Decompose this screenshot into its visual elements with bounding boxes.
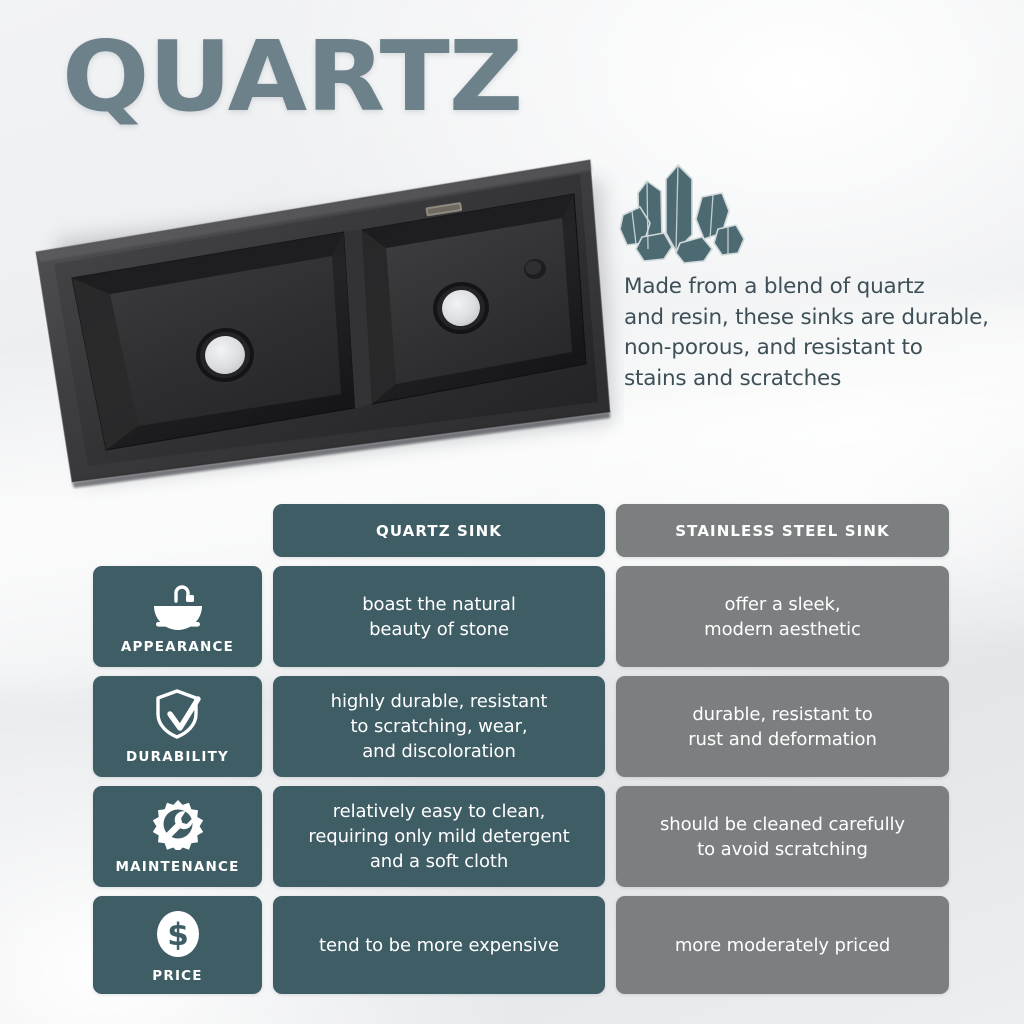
cell-line: boast the natural <box>362 592 516 617</box>
cell-steel-appearance: offer a sleek, modern aesthetic <box>616 566 949 667</box>
row-label-text: MAINTENANCE <box>115 859 239 875</box>
row-label-appearance: APPEARANCE <box>93 566 262 667</box>
cell-line: modern aesthetic <box>704 617 861 642</box>
row-label-price: $ PRICE <box>93 896 262 994</box>
cell-text: durable, resistant to rust and deformati… <box>674 702 891 752</box>
description-line: Made from a blend of quartz <box>624 272 1002 303</box>
cell-steel-maintenance: should be cleaned carefully to avoid scr… <box>616 786 949 887</box>
cell-line: and discoloration <box>331 739 548 764</box>
table-row: APPEARANCE boast the natural beauty of s… <box>93 566 949 667</box>
dollar-coin-icon: $ <box>153 907 203 959</box>
sink-basin-faucet-icon <box>147 578 209 630</box>
cell-quartz-price: tend to be more expensive <box>273 896 605 994</box>
cell-line: offer a sleek, <box>704 592 861 617</box>
cell-quartz-maintenance: relatively easy to clean, requiring only… <box>273 786 605 887</box>
row-label-durability: DURABILITY <box>93 676 262 777</box>
cell-line: beauty of stone <box>362 617 516 642</box>
row-label-maintenance: MAINTENANCE <box>93 786 262 887</box>
description-line: non-porous, and resistant to <box>624 333 1002 364</box>
cell-text: tend to be more expensive <box>305 933 573 958</box>
cell-line: highly durable, resistant <box>331 689 548 714</box>
header-stainless-steel-sink: STAINLESS STEEL SINK <box>616 504 949 557</box>
description-line: stains and scratches <box>624 364 1002 395</box>
row-label-text: PRICE <box>152 968 202 984</box>
table-header-row: QUARTZ SINK STAINLESS STEEL SINK <box>93 504 949 557</box>
cell-text: should be cleaned carefully to avoid scr… <box>646 812 919 862</box>
description-text: Made from a blend of quartz and resin, t… <box>624 272 1002 394</box>
cell-line: and a soft cloth <box>308 849 569 874</box>
cell-line: tend to be more expensive <box>319 933 559 958</box>
header-quartz-sink: QUARTZ SINK <box>273 504 605 557</box>
infographic-canvas: QUARTZ <box>0 0 1024 1024</box>
cell-line: requiring only mild detergent <box>308 824 569 849</box>
cell-line: rust and deformation <box>688 727 877 752</box>
gear-wrench-icon <box>151 798 205 850</box>
quartz-crystal-cluster-icon <box>618 163 748 271</box>
cell-text: relatively easy to clean, requiring only… <box>294 799 583 874</box>
svg-text:$: $ <box>167 917 189 953</box>
row-label-text: APPEARANCE <box>121 639 234 655</box>
row-label-text: DURABILITY <box>126 749 229 765</box>
cell-line: relatively easy to clean, <box>308 799 569 824</box>
cell-line: more moderately priced <box>675 933 890 958</box>
cell-text: boast the natural beauty of stone <box>348 592 530 642</box>
cell-line: to avoid scratching <box>660 837 905 862</box>
table-row: DURABILITY highly durable, resistant to … <box>93 676 949 777</box>
shield-check-icon <box>151 688 205 740</box>
description-line: and resin, these sinks are durable, <box>624 303 1002 334</box>
page-title: QUARTZ <box>62 28 522 125</box>
quartz-sink-photo <box>14 112 624 502</box>
cell-text: more moderately priced <box>661 933 904 958</box>
cell-quartz-durability: highly durable, resistant to scratching,… <box>273 676 605 777</box>
cell-line: durable, resistant to <box>688 702 877 727</box>
table-row: $ PRICE tend to be more expensive more m… <box>93 896 949 994</box>
comparison-table: QUARTZ SINK STAINLESS STEEL SINK APPEARA… <box>93 504 949 1003</box>
cell-text: highly durable, resistant to scratching,… <box>317 689 562 764</box>
cell-line: should be cleaned carefully <box>660 812 905 837</box>
cell-line: to scratching, wear, <box>331 714 548 739</box>
cell-steel-durability: durable, resistant to rust and deformati… <box>616 676 949 777</box>
cell-steel-price: more moderately priced <box>616 896 949 994</box>
header-spacer <box>93 504 262 557</box>
cell-quartz-appearance: boast the natural beauty of stone <box>273 566 605 667</box>
table-row: MAINTENANCE relatively easy to clean, re… <box>93 786 949 887</box>
cell-text: offer a sleek, modern aesthetic <box>690 592 875 642</box>
